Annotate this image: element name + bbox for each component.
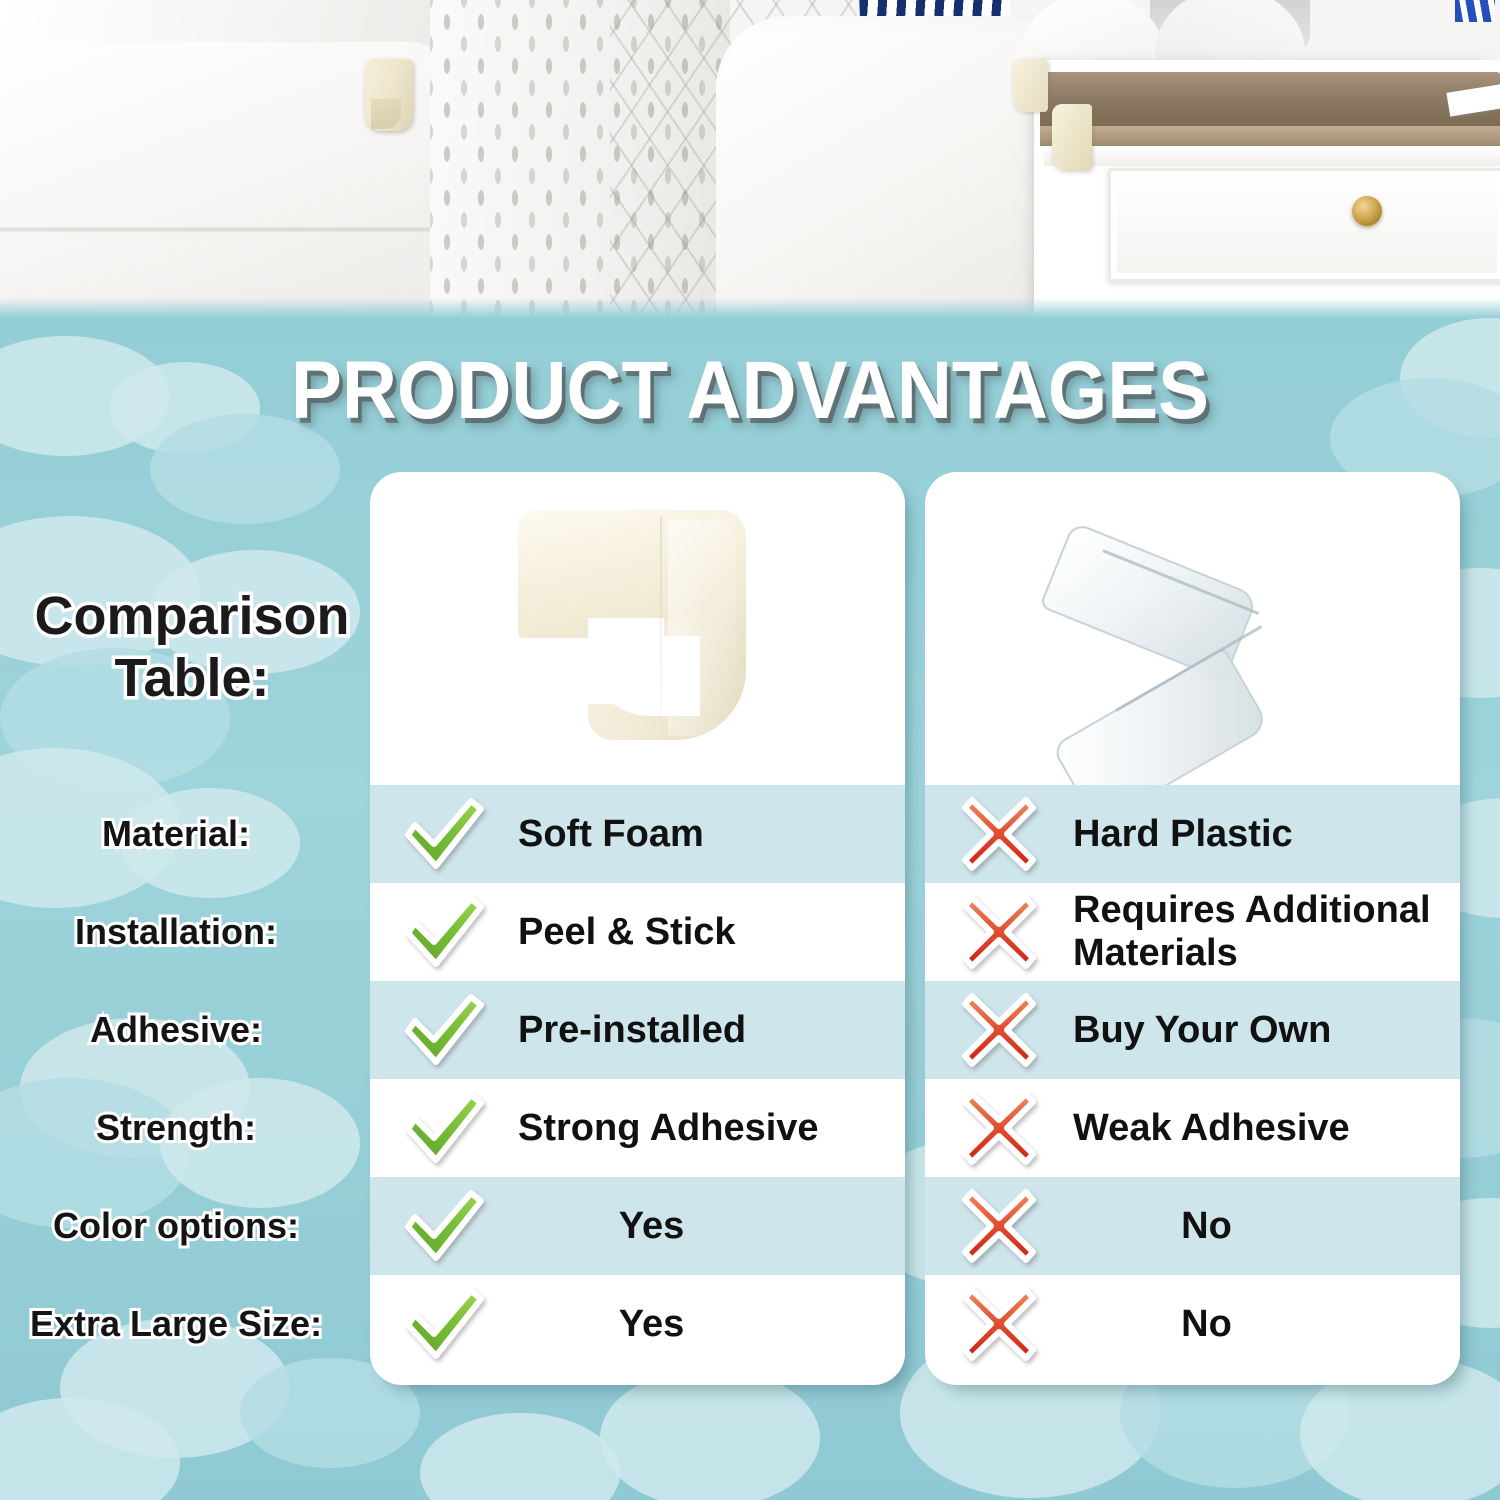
cross-icon	[925, 892, 1073, 972]
row-label-material: Material:	[0, 785, 352, 883]
row-label-column: Material: Installation: Adhesive: Streng…	[0, 785, 352, 1373]
row-value: Yes	[518, 1205, 905, 1248]
foam-highlight	[668, 520, 736, 736]
photo-nightstand-top-edge	[1040, 126, 1500, 146]
product-image-foam-corner-guard	[370, 472, 905, 785]
check-icon-svg	[401, 1091, 487, 1165]
photo-room-divider	[430, 0, 730, 318]
comparison-card-foam: Soft Foam Peel & Stick Pre-installed	[370, 472, 905, 1385]
cross-icon	[925, 794, 1073, 874]
comparison-card-plastic: Hard Plastic Requires Additional Materia…	[925, 472, 1460, 1385]
row-value: Peel & Stick	[518, 911, 905, 954]
comparison-table-heading: Comparison Table:	[18, 585, 366, 709]
row-value: Yes	[518, 1303, 905, 1346]
check-icon-svg	[401, 1189, 487, 1263]
photo-gold-drawer-knob	[1352, 196, 1382, 226]
table-row: Soft Foam	[370, 785, 905, 883]
photo-nightstand-apron	[1044, 146, 1500, 166]
row-value: Weak Adhesive	[1073, 1107, 1460, 1150]
cross-icon	[925, 1186, 1073, 1266]
check-icon-svg	[401, 1287, 487, 1361]
cross-icon-svg	[959, 1186, 1039, 1266]
product-image-plastic-corner-guard	[925, 472, 1460, 785]
check-icon	[370, 1189, 518, 1263]
check-icon-svg	[401, 993, 487, 1067]
table-row: Requires Additional Materials	[925, 883, 1460, 981]
cream-foam-corner-guard-art	[518, 510, 746, 740]
check-icon	[370, 797, 518, 871]
row-value: Requires Additional Materials	[1073, 889, 1460, 975]
cloud-shape	[420, 1413, 620, 1500]
foam-rows: Soft Foam Peel & Stick Pre-installed	[370, 785, 905, 1373]
table-row: Peel & Stick	[370, 883, 905, 981]
cross-icon-svg	[959, 794, 1039, 874]
cross-icon-svg	[959, 1088, 1039, 1168]
cross-icon	[925, 1284, 1073, 1364]
check-icon-svg	[401, 895, 487, 969]
cross-icon-svg	[959, 1284, 1039, 1364]
photo-corner-guard-on-table-b	[1052, 104, 1092, 170]
page-title: PRODUCT ADVANTAGES	[53, 344, 1448, 438]
check-icon-svg	[401, 797, 487, 871]
check-icon	[370, 895, 518, 969]
cross-icon-svg	[959, 892, 1039, 972]
cross-icon	[925, 1088, 1073, 1168]
photo-installed-foam-corner-guard	[365, 59, 413, 131]
row-label-strength: Strength:	[0, 1079, 352, 1177]
photo-nightstand-wood-top	[1040, 72, 1500, 130]
row-label-adhesive: Adhesive:	[0, 981, 352, 1079]
table-row: Hard Plastic	[925, 785, 1460, 883]
photo-sofa-seam	[0, 228, 450, 231]
plastic-rows: Hard Plastic Requires Additional Materia…	[925, 785, 1460, 1373]
row-label-installation: Installation:	[0, 883, 352, 981]
row-value: Hard Plastic	[1073, 813, 1460, 856]
check-icon	[370, 1287, 518, 1361]
clear-plastic-corner-guard-art	[1068, 507, 1297, 743]
row-label-color-options: Color options:	[0, 1177, 352, 1275]
table-row: Yes	[370, 1177, 905, 1275]
table-row: No	[925, 1177, 1460, 1275]
photo-bottom-fade	[0, 298, 1500, 318]
table-row: No	[925, 1275, 1460, 1373]
check-icon	[370, 1091, 518, 1165]
cross-icon-svg	[959, 990, 1039, 1070]
row-value: Soft Foam	[518, 813, 905, 856]
photo-sofa-right	[716, 16, 1066, 318]
row-value: No	[1073, 1205, 1460, 1248]
infographic-page: PRODUCT ADVANTAGES Comparison Table: Mat…	[0, 0, 1500, 1500]
row-value: No	[1073, 1303, 1460, 1346]
table-row: Strong Adhesive	[370, 1079, 905, 1177]
cloud-shape	[600, 1368, 820, 1500]
table-row: Weak Adhesive	[925, 1079, 1460, 1177]
row-label-extra-large-size: Extra Large Size:	[0, 1275, 352, 1373]
row-value: Pre-installed	[518, 1009, 905, 1052]
photo-blue-stripe-sliver	[1455, 0, 1495, 22]
row-value: Buy Your Own	[1073, 1009, 1460, 1052]
cross-icon	[925, 990, 1073, 1070]
table-row: Pre-installed	[370, 981, 905, 1079]
photo-nightstand-drawer	[1108, 168, 1500, 282]
table-row: Yes	[370, 1275, 905, 1373]
foam-bevel-line	[660, 516, 662, 740]
table-row: Buy Your Own	[925, 981, 1460, 1079]
lifestyle-photo	[0, 0, 1500, 318]
check-icon	[370, 993, 518, 1067]
row-value: Strong Adhesive	[518, 1107, 905, 1150]
photo-corner-guard-on-table-a	[1013, 60, 1048, 112]
